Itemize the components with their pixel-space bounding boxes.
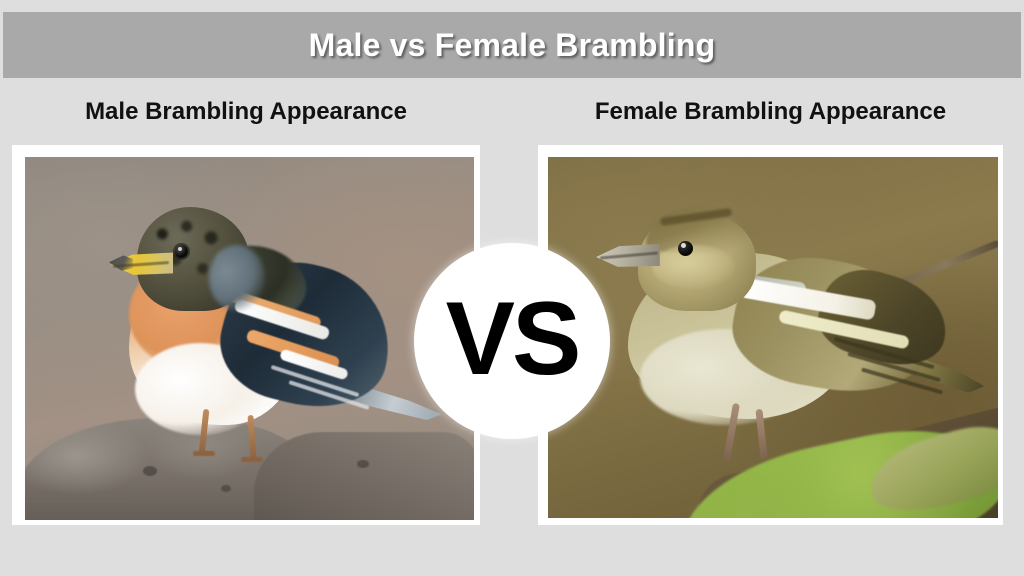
vs-label: VS	[446, 287, 579, 391]
female-cheek	[652, 245, 736, 289]
male-brambling-photo	[25, 157, 474, 520]
male-foot	[193, 451, 215, 456]
male-brambling-bird	[83, 193, 403, 493]
comparison-page: Male vs Female Brambling Male Brambling …	[0, 0, 1024, 576]
title-bar: Male vs Female Brambling	[3, 12, 1021, 78]
female-brambling-bird	[582, 183, 982, 483]
female-eye-glint	[681, 243, 686, 248]
male-leg	[247, 415, 256, 459]
page-title: Male vs Female Brambling	[309, 27, 716, 64]
male-eye-glint	[178, 247, 182, 251]
left-caption: Male Brambling Appearance	[12, 98, 480, 126]
left-photo-frame	[12, 145, 480, 525]
vs-badge: VS	[414, 243, 610, 439]
male-foot	[241, 457, 263, 462]
female-brambling-photo	[548, 157, 998, 518]
right-caption: Female Brambling Appearance	[538, 98, 1003, 126]
male-nape	[209, 245, 265, 311]
